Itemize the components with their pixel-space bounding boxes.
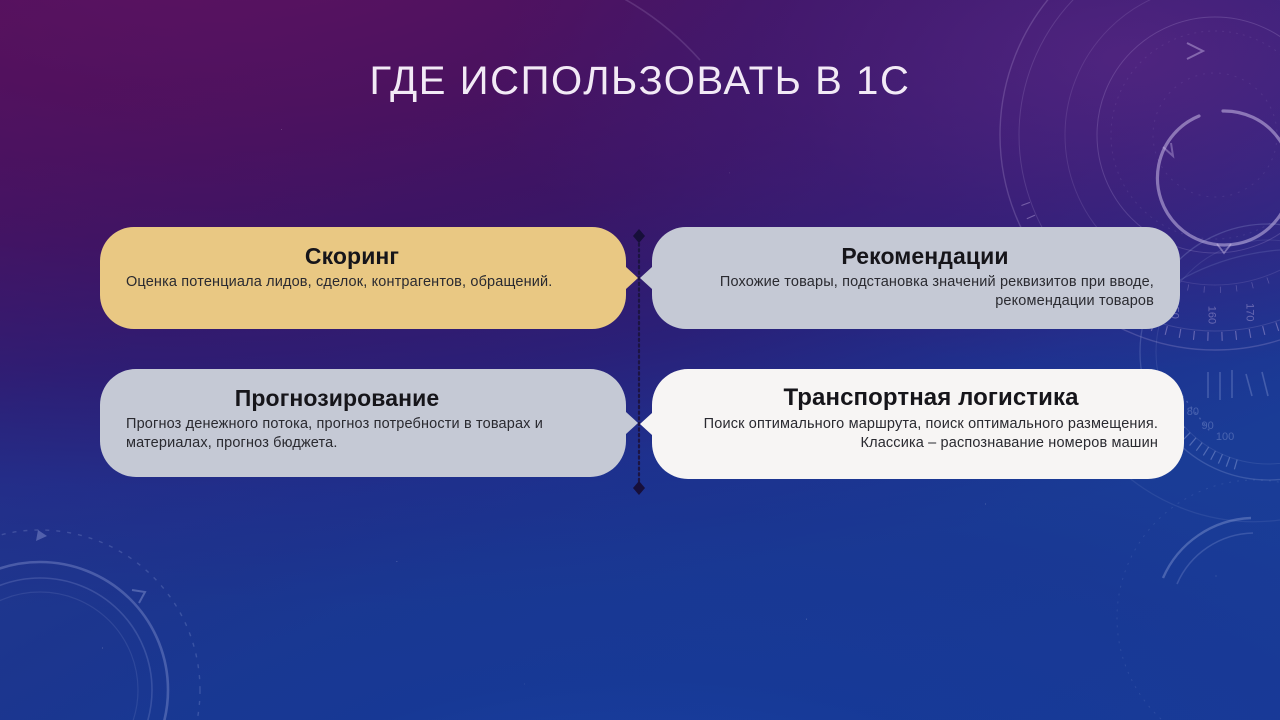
callout-transport-logistics-body: Поиск оптимального маршрута, поиск оптим…: [692, 415, 1158, 453]
callout-forecasting-body: Прогноз денежного потока, прогноз потреб…: [126, 415, 584, 453]
callout-recommendations[interactable]: Рекомендации Похожие товары, подстановка…: [640, 227, 1180, 329]
callout-forecasting-title: Прогнозирование: [126, 383, 584, 413]
callout-scoring-body: Оценка потенциала лидов, сделок, контраг…: [126, 273, 584, 292]
callout-group: Скоринг Оценка потенциала лидов, сделок,…: [0, 0, 1280, 720]
callout-recommendations-title: Рекомендации: [692, 241, 1154, 271]
callout-transport-logistics-title: Транспортная логистика: [692, 383, 1158, 413]
callout-recommendations-body: Похожие товары, подстановка значений рек…: [692, 273, 1154, 311]
callout-scoring[interactable]: Скоринг Оценка потенциала лидов, сделок,…: [100, 227, 638, 329]
callout-scoring-title: Скоринг: [126, 241, 584, 271]
callout-forecasting[interactable]: Прогнозирование Прогноз денежного потока…: [100, 369, 638, 477]
callout-transport-logistics[interactable]: Транспортная логистика Поиск оптимальног…: [640, 369, 1184, 479]
slide-root: 210 200 190 180 170 160 150: [0, 0, 1280, 720]
